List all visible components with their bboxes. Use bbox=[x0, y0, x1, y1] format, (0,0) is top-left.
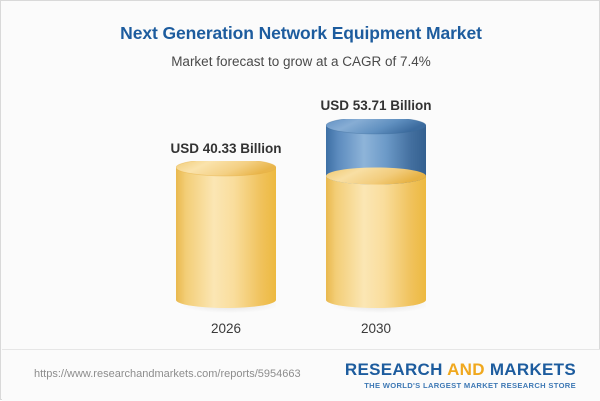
logo-word-and: AND bbox=[447, 360, 485, 379]
category-label-2030: 2030 bbox=[276, 321, 476, 336]
logo-wordmark: RESEARCH AND MARKETS bbox=[345, 361, 576, 379]
logo-word-markets: MARKETS bbox=[485, 360, 576, 379]
logo[interactable]: RESEARCH AND MARKETS THE WORLD'S LARGEST… bbox=[345, 361, 576, 390]
chart-plot-area: USD 40.33 Billion bbox=[1, 1, 600, 349]
cylinder-2030[interactable] bbox=[326, 119, 426, 313]
footer: https://www.researchandmarkets.com/repor… bbox=[2, 349, 600, 401]
report-url[interactable]: https://www.researchandmarkets.com/repor… bbox=[34, 368, 301, 380]
chart-card: Next Generation Network Equipment Market… bbox=[0, 0, 600, 400]
data-label-2030: USD 53.71 Billion bbox=[276, 98, 476, 113]
data-label-2026: USD 40.33 Billion bbox=[126, 141, 326, 156]
cylinder-2026[interactable] bbox=[176, 161, 276, 313]
logo-word-research: RESEARCH bbox=[345, 360, 447, 379]
logo-tagline: THE WORLD'S LARGEST MARKET RESEARCH STOR… bbox=[345, 381, 576, 390]
